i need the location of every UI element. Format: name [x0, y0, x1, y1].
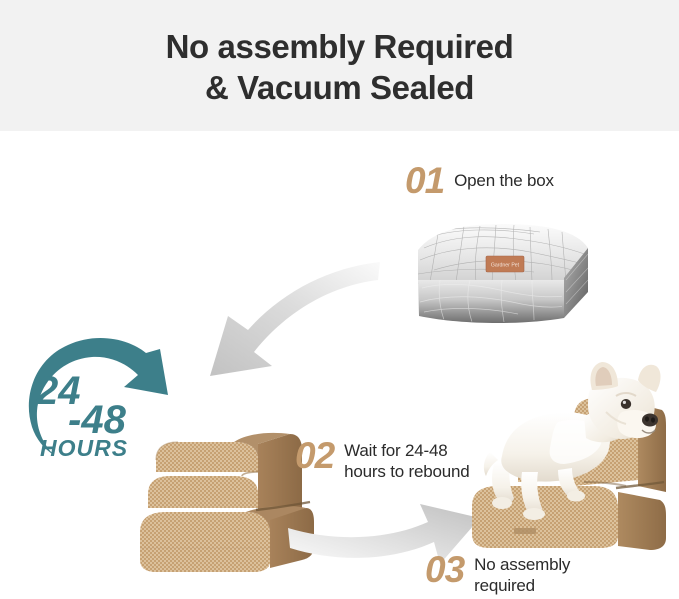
badge-unit-label: HOURS [40, 437, 128, 460]
step-03-text-line1: No assembly [474, 555, 570, 574]
step-03-label: 03 No assembly required [425, 551, 570, 596]
step-02-label: 02 Wait for 24-48 hours to rebound [295, 437, 470, 482]
badge-unit-label-text: HOURS [40, 435, 128, 461]
infographic-canvas: No assembly Required & Vacuum Sealed 01 … [0, 0, 679, 599]
page-title: No assembly Required & Vacuum Sealed [0, 26, 679, 108]
page-title-line2: & Vacuum Sealed [0, 67, 679, 108]
step-02-text-line1: Wait for 24-48 [344, 441, 447, 460]
step-01-text: Open the box [454, 170, 554, 191]
step-01-number: 01 [405, 162, 444, 200]
step-02-number: 02 [295, 437, 334, 475]
package-top-surface [418, 224, 592, 284]
badge-bottom-value: -48 [68, 400, 126, 440]
step-01-label: 01 Open the box [405, 162, 554, 200]
step-01-text-line1: Open the box [454, 171, 554, 190]
header-band: No assembly Required & Vacuum Sealed [0, 0, 679, 131]
package-brand-label-text: Gardner Pet [491, 263, 520, 269]
step-03-text-line2: required [474, 575, 570, 596]
dog-on-pet-stairs-image [466, 360, 679, 560]
package-front-surface [418, 280, 566, 323]
step-02-text: Wait for 24-48 hours to rebound [344, 440, 469, 482]
step-03-number: 03 [425, 551, 464, 589]
stairs-brand-tag [514, 528, 536, 534]
package-brand-label: Gardner Pet [486, 256, 524, 272]
step-03-text: No assembly required [474, 554, 570, 596]
step-02-text-line2: hours to rebound [344, 461, 469, 482]
vacuum-sealed-package-image: Gardner Pet [404, 218, 600, 329]
curved-arrow-down-left-icon [176, 258, 381, 383]
page-title-line1: No assembly Required [166, 28, 514, 65]
